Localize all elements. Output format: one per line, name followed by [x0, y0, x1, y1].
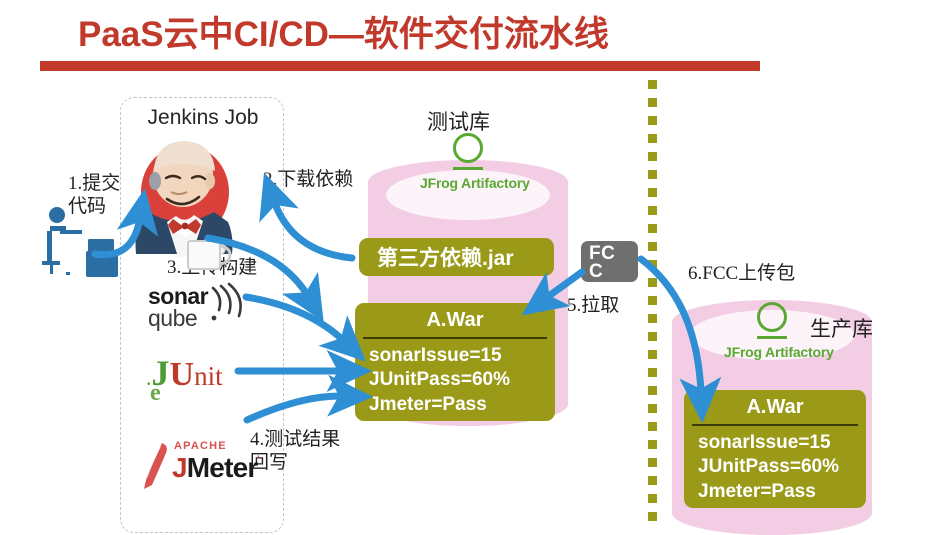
jmeter-apache-label: APACHE	[174, 440, 227, 452]
junit-letters-nit: nit	[194, 361, 223, 391]
jfrog-wordmark-test: JFrog Artifactory	[420, 175, 516, 191]
jfrog-ring-icon	[453, 133, 483, 163]
test-repo-caption: 测试库	[427, 110, 490, 136]
sonarqube-wordmark-line2: qube	[148, 308, 208, 330]
metric-row: sonarIssue=15	[698, 431, 866, 455]
fcc-line-2: C	[589, 263, 630, 281]
artifact-metrics-test: sonarIssue=15 JUnitPass=60% Jmeter=Pass	[355, 339, 555, 423]
jfrog-ring-icon	[757, 302, 787, 332]
metric-row: sonarIssue=15	[369, 344, 555, 368]
title-underline-rule	[40, 61, 760, 71]
artifact-box-test[interactable]: A.War sonarIssue=15 JUnitPass=60% Jmeter…	[355, 303, 555, 421]
jfrog-wordmark-prod: JFrog Artifactory	[724, 344, 820, 360]
jfrog-bar-icon	[453, 167, 483, 170]
step-4-label: 4.测试结果 回写	[250, 428, 340, 474]
third-party-dependency-box[interactable]: 第三方依赖.jar	[359, 238, 554, 276]
step-6-label: 6.FCC上传包	[688, 262, 795, 285]
jenkins-job-label: Jenkins Job	[128, 106, 278, 130]
jmeter-letter-j: J	[172, 452, 187, 483]
artifact-box-prod[interactable]: A.War sonarIssue=15 JUnitPass=60% Jmeter…	[684, 390, 866, 508]
jfrog-artifactory-logo-prod: JFrog Artifactory	[724, 302, 820, 360]
metric-row: JUnitPass=60%	[698, 455, 866, 479]
section-divider-dotted	[648, 80, 657, 535]
arrow-step-2	[274, 201, 352, 258]
step-5-label: 5.拉取	[567, 294, 619, 317]
prod-repo-caption: 生产库	[810, 317, 873, 343]
artifact-metrics-prod: sonarIssue=15 JUnitPass=60% Jmeter=Pass	[684, 426, 866, 510]
jmeter-rest: Meter	[187, 452, 258, 483]
jmeter-wordmark: JMeter	[172, 452, 257, 484]
slide-canvas: PaaS云中CI/CD—软件交付流水线 Jenkins Job JFrog Ar…	[0, 0, 926, 535]
junit-logo: .JUnit e	[146, 352, 223, 394]
step-2-label: 2.下载依赖	[263, 168, 353, 191]
third-party-dependency-label: 第三方依赖.jar	[377, 242, 514, 272]
artifact-header-test: A.War	[355, 303, 555, 337]
artifact-header-prod: A.War	[684, 390, 866, 424]
fcc-box[interactable]: FC C	[581, 241, 638, 282]
metric-row: Jmeter=Pass	[369, 393, 555, 417]
page-title: PaaS云中CI/CD—软件交付流水线	[78, 6, 609, 57]
sonarqube-logo: sonar qube	[148, 286, 208, 330]
junit-letter-e: e	[150, 380, 161, 407]
step-3-label: 3.上传构建	[167, 256, 257, 279]
step-1-label: 1.提交 代码	[68, 172, 120, 218]
jmeter-tick: '	[257, 452, 260, 468]
junit-letter-u: U	[170, 356, 195, 393]
jfrog-bar-icon	[757, 336, 787, 339]
jfrog-artifactory-logo-test: JFrog Artifactory	[420, 133, 516, 191]
metric-row: Jmeter=Pass	[698, 480, 866, 504]
metric-row: JUnitPass=60%	[369, 368, 555, 392]
